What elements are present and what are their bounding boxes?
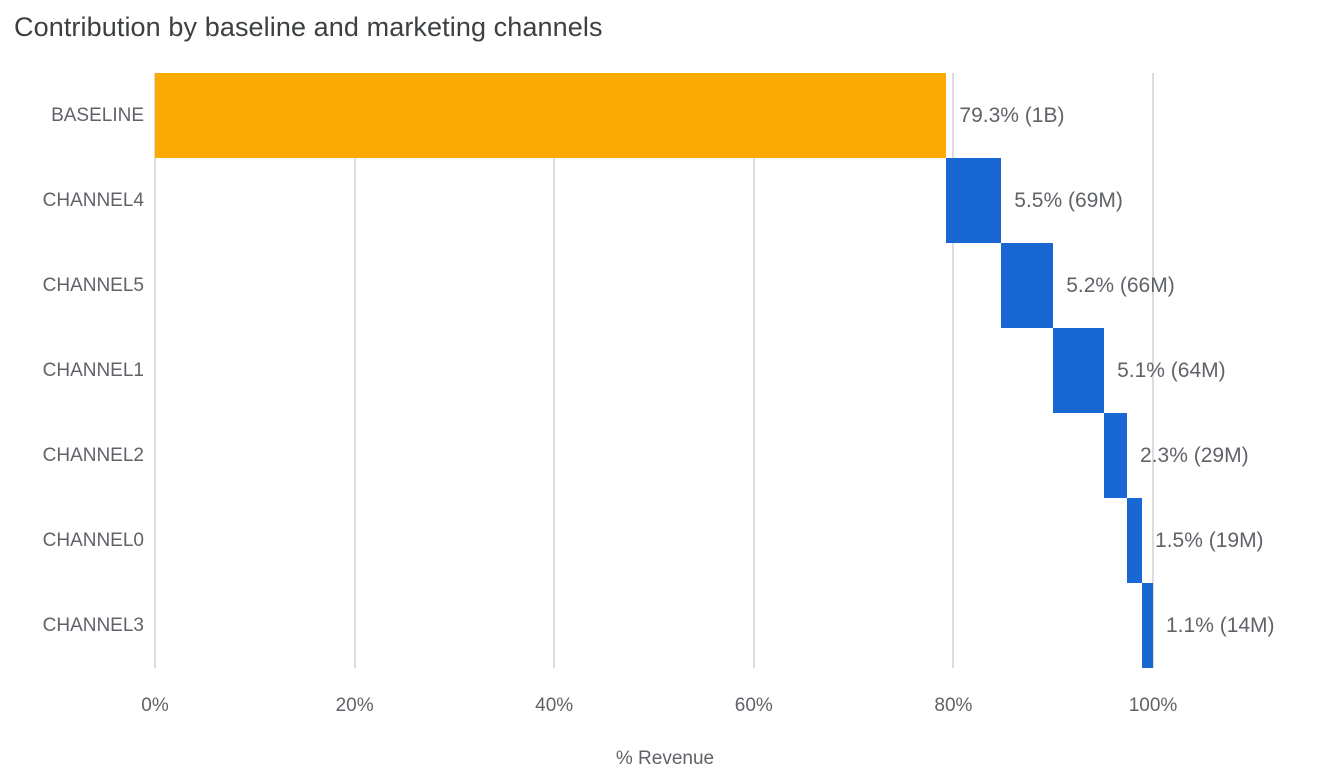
category-label-channel1: CHANNEL1 [43, 360, 144, 382]
category-label-channel0: CHANNEL0 [43, 530, 144, 552]
plot-area [155, 73, 1153, 668]
x-tick-label: 20% [336, 695, 374, 717]
bar-channel4[interactable] [946, 158, 1001, 243]
value-label-channel0: 1.5% (19M) [1155, 529, 1264, 553]
gridline-20% [354, 73, 356, 668]
x-tick-label: 0% [141, 695, 168, 717]
x-tick-label: 80% [934, 695, 972, 717]
x-tick-label: 60% [735, 695, 773, 717]
gridline-40% [553, 73, 555, 668]
category-label-channel3: CHANNEL3 [43, 615, 144, 637]
bar-channel2[interactable] [1104, 413, 1127, 498]
value-label-channel3: 1.1% (14M) [1166, 614, 1275, 638]
x-tick-label: 100% [1129, 695, 1178, 717]
category-label-channel5: CHANNEL5 [43, 275, 144, 297]
value-label-channel2: 2.3% (29M) [1140, 444, 1249, 468]
bar-channel3[interactable] [1142, 583, 1153, 668]
gridline-60% [753, 73, 755, 668]
value-label-channel1: 5.1% (64M) [1117, 359, 1226, 383]
x-axis-title: % Revenue [0, 748, 1330, 770]
bar-baseline[interactable] [155, 73, 946, 158]
value-label-baseline: 79.3% (1B) [959, 104, 1064, 128]
bar-channel0[interactable] [1127, 498, 1142, 583]
value-label-channel4: 5.5% (69M) [1014, 189, 1123, 213]
value-label-channel5: 5.2% (66M) [1066, 274, 1175, 298]
x-tick-label: 40% [535, 695, 573, 717]
bar-channel1[interactable] [1053, 328, 1104, 413]
category-label-baseline: BASELINE [51, 105, 144, 127]
bar-channel5[interactable] [1001, 243, 1053, 328]
chart-container: Contribution by baseline and marketing c… [0, 0, 1330, 781]
category-label-channel2: CHANNEL2 [43, 445, 144, 467]
gridline-0% [154, 73, 156, 668]
chart-title: Contribution by baseline and marketing c… [14, 12, 603, 43]
category-label-channel4: CHANNEL4 [43, 190, 144, 212]
